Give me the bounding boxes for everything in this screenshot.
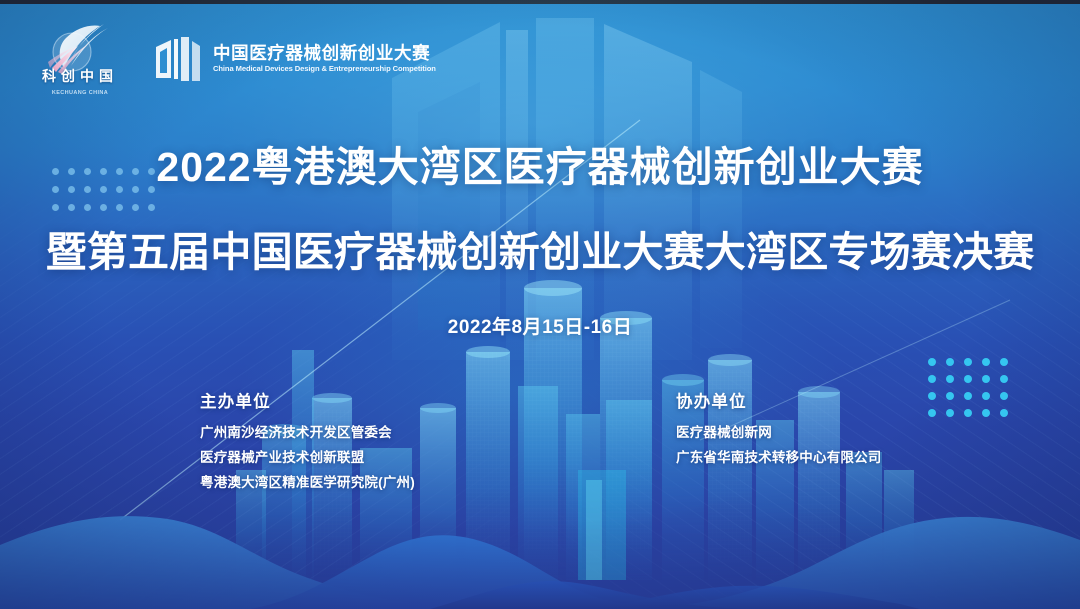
kechuang-china-logo-cn: 科创中国 <box>34 66 126 86</box>
cohost-organizers-heading: 协办单位 <box>676 388 882 412</box>
list-item: 广州南沙经济技术开发区管委会 <box>200 421 415 441</box>
open-door-book-logo-icon <box>154 37 202 81</box>
competition-logo: 中国医疗器械创新创业大赛 China Medical Devices Desig… <box>154 37 436 81</box>
list-item: 医疗器械创新网 <box>676 421 882 441</box>
cohost-organizers-block: 协办单位 医疗器械创新网 广东省华南技术转移中心有限公司 <box>676 388 882 466</box>
list-item: 广东省华南技术转移中心有限公司 <box>676 446 882 466</box>
poster-canvas: 科创中国 KECHUANG CHINA 中国医疗器械创新创业大赛 China M… <box>0 0 1080 609</box>
list-item: 医疗器械产业技术创新联盟 <box>200 446 415 466</box>
event-date: 2022年8月15日-16日 <box>0 312 1080 339</box>
poster-title-line-2: 暨第五届中国医疗器械创新创业大赛大湾区专场赛决赛 <box>0 218 1080 278</box>
host-organizers-heading: 主办单位 <box>200 388 415 412</box>
host-organizers-list: 广州南沙经济技术开发区管委会 医疗器械产业技术创新联盟 粤港澳大湾区精准医学研究… <box>200 421 415 491</box>
competition-logo-en: China Medical Devices Design & Entrepren… <box>213 65 436 73</box>
cohost-organizers-list: 医疗器械创新网 广东省华南技术转移中心有限公司 <box>676 421 882 466</box>
kechuang-china-logo-en: KECHUANG CHINA <box>34 90 126 96</box>
competition-logo-cn: 中国医疗器械创新创业大赛 <box>213 45 436 63</box>
header-logos: 科创中国 KECHUANG CHINA 中国医疗器械创新创业大赛 China M… <box>34 22 436 96</box>
poster-title-line-1: 2022粤港澳大湾区医疗器械创新创业大赛 <box>0 133 1080 193</box>
kechuang-china-logo: 科创中国 KECHUANG CHINA <box>34 22 126 96</box>
host-organizers-block: 主办单位 广州南沙经济技术开发区管委会 医疗器械产业技术创新联盟 粤港澳大湾区精… <box>200 388 415 491</box>
list-item: 粤港澳大湾区精准医学研究院(广州) <box>200 471 415 491</box>
